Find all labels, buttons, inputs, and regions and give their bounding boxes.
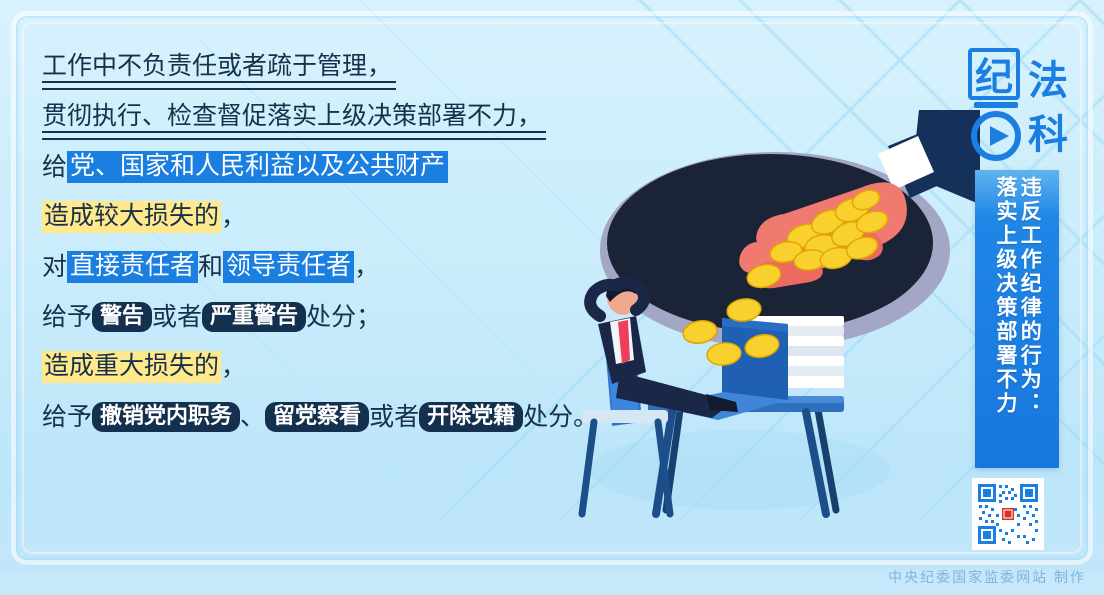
credit-line: 中央纪委国家监委网站 制作 xyxy=(0,567,1086,587)
line5-suffix: ， xyxy=(354,255,379,280)
text-line-4: 造成较大损失的， xyxy=(42,192,662,242)
line8-pill-expulsion: 开除党籍 xyxy=(419,402,523,433)
line6-pill-serious-warning: 严重警告 xyxy=(202,302,306,333)
line6-suffix: 处分； xyxy=(306,305,381,330)
line8-sep-1: 、 xyxy=(240,405,265,430)
line8-prefix: 给予 xyxy=(42,405,92,430)
play-triangle-icon xyxy=(990,126,1009,146)
line7-highlight-yellow: 造成重大损失的 xyxy=(42,351,221,383)
line5-mid: 和 xyxy=(198,255,223,280)
body-text-block: 工作中不负责任或者疏于管理， 贯彻执行、检查督促落实上级决策部署不力， 给党、国… xyxy=(42,42,662,442)
text-line-7: 造成重大损失的， xyxy=(42,342,662,392)
line5-prefix: 对 xyxy=(42,255,67,280)
logo-char3-top xyxy=(974,102,1018,108)
text-line-8: 给予撤销党内职务、留党察看或者开除党籍处分。 xyxy=(42,392,662,442)
logo-char4: 科 xyxy=(1028,113,1068,157)
line1-text: 工作中不负责任或者疏于管理， xyxy=(42,54,392,81)
vertical-title-panel: 违反工作纪律的行为： 落实上级决策部署不力 xyxy=(975,170,1059,468)
line8-mid: 或者 xyxy=(369,405,419,430)
line7-suffix: ， xyxy=(221,355,246,380)
infographic-canvas: 工作中不负责任或者疏于管理， 贯彻执行、检查督促落实上级决策部署不力， 给党、国… xyxy=(0,0,1104,595)
line4-highlight-yellow: 造成较大损失的 xyxy=(42,201,221,233)
line6-pill-warning: 警告 xyxy=(92,302,152,333)
brand-logo[interactable]: 纪 法 科 xyxy=(966,44,1078,170)
text-line-1: 工作中不负责任或者疏于管理， xyxy=(42,42,662,92)
line5-highlight-blue-2: 领导责任者 xyxy=(223,251,354,283)
line3-prefix: 给 xyxy=(42,155,67,180)
vertical-text-right: 违反工作纪律的行为： xyxy=(1018,176,1040,468)
line8-suffix: 处分。 xyxy=(523,405,598,430)
line2-text: 贯彻执行、检查督促落实上级决策部署不力， xyxy=(42,104,542,131)
line6-mid: 或者 xyxy=(152,305,202,330)
text-line-2: 贯彻执行、检查督促落实上级决策部署不力， xyxy=(42,92,662,142)
line8-pill-remove-post: 撤销党内职务 xyxy=(92,402,240,433)
vertical-text-left: 落实上级决策部署不力 xyxy=(994,176,1016,468)
text-line-3: 给党、国家和人民利益以及公共财产 xyxy=(42,142,662,192)
qr-code[interactable] xyxy=(972,478,1044,550)
line4-suffix: ， xyxy=(221,205,246,230)
line6-prefix: 给予 xyxy=(42,305,92,330)
text-line-6: 给予警告或者严重警告处分； xyxy=(42,292,662,342)
logo-char1: 纪 xyxy=(975,57,1013,99)
text-line-5: 对直接责任者和领导责任者， xyxy=(42,242,662,292)
line8-pill-probation: 留党察看 xyxy=(265,402,369,433)
line3-highlight-blue: 党、国家和人民利益以及公共财产 xyxy=(67,151,448,183)
logo-char2: 法 xyxy=(1028,59,1068,103)
line5-highlight-blue-1: 直接责任者 xyxy=(67,251,198,283)
